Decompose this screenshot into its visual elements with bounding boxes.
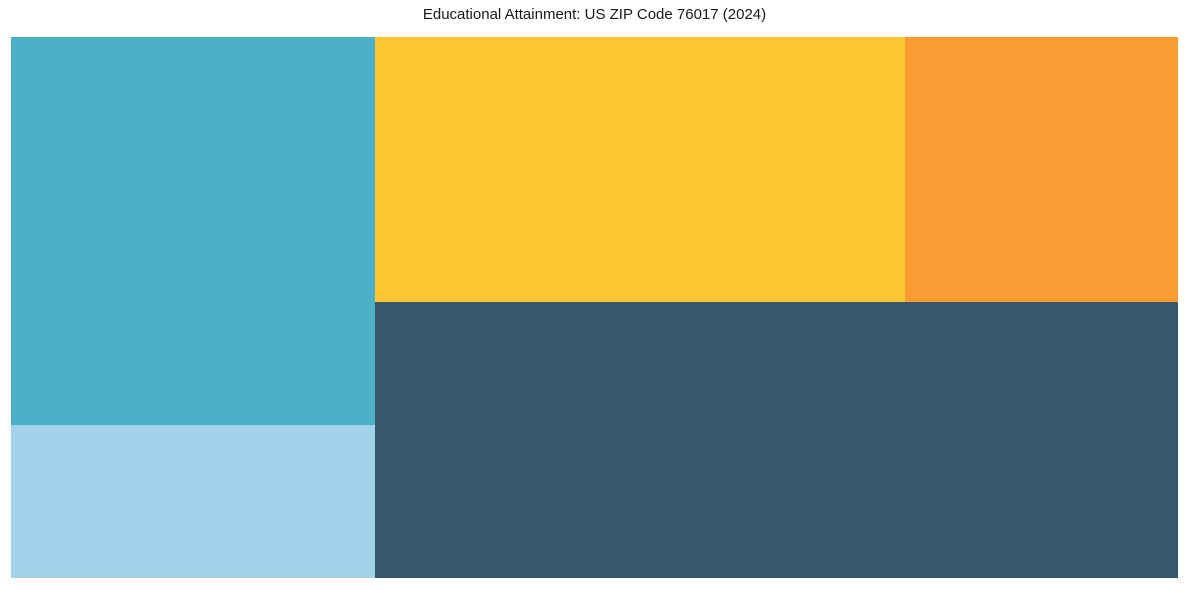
treemap-tile[interactable] xyxy=(11,425,375,578)
treemap-tile[interactable] xyxy=(375,302,1178,578)
figure-canvas: Educational Attainment: US ZIP Code 7601… xyxy=(0,0,1189,590)
chart-title: Educational Attainment: US ZIP Code 7601… xyxy=(0,6,1189,24)
treemap-tile[interactable] xyxy=(375,37,905,302)
treemap-plot-area xyxy=(11,37,1178,578)
treemap-tile[interactable] xyxy=(11,37,375,425)
treemap-tile[interactable] xyxy=(905,37,1178,302)
